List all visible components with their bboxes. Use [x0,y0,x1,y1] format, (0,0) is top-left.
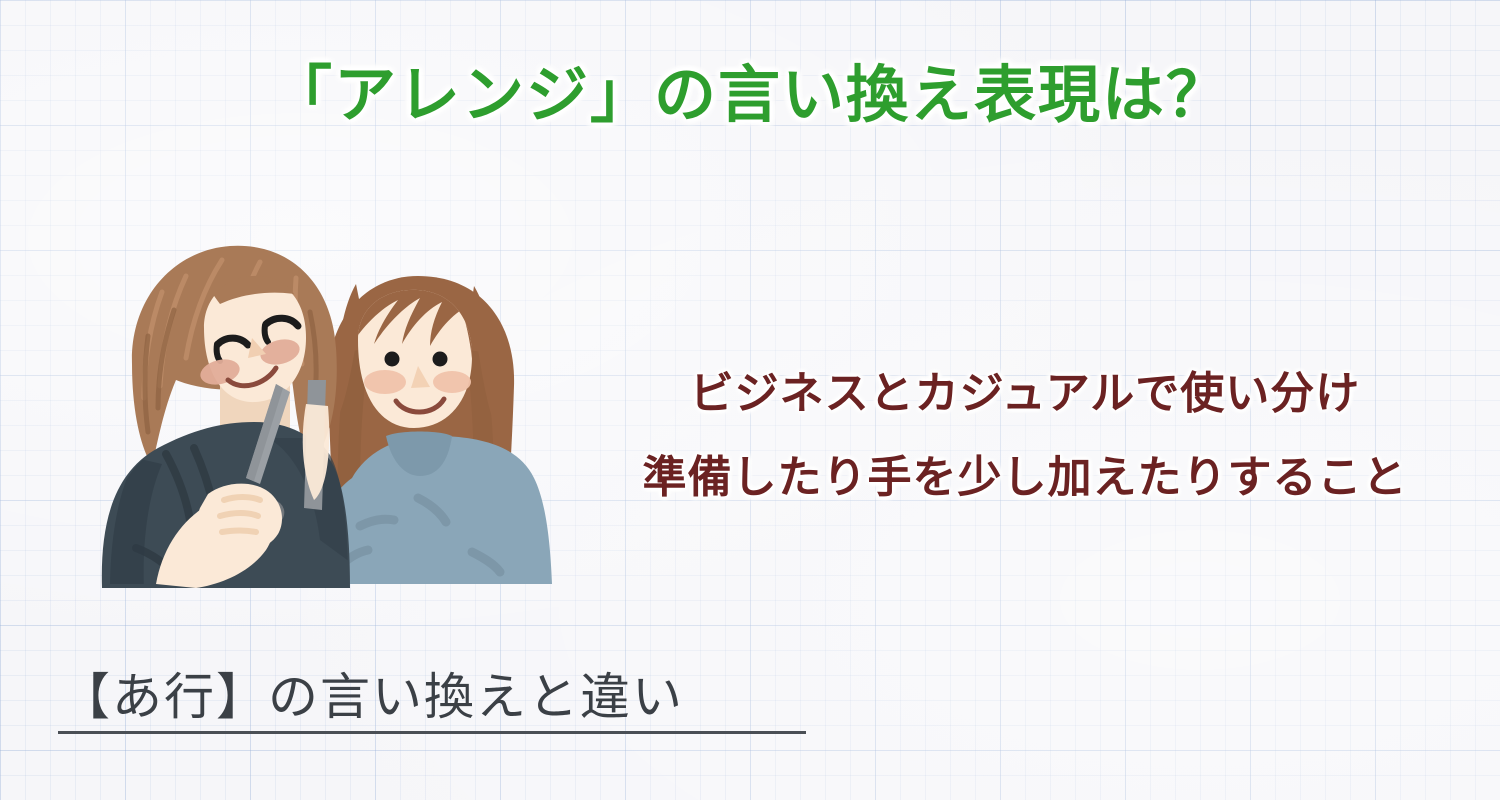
hairdresser-illustration [100,232,560,592]
body-line-1: ビジネスとカジュアルで使い分け [590,352,1460,436]
page-title: 「アレンジ」の言い換え表現は？ [0,44,1500,134]
client-eye-right [433,352,448,367]
client-eye-left [385,352,400,367]
poster-canvas: 「アレンジ」の言い換え表現は？ [0,0,1500,800]
body-copy: ビジネスとカジュアルで使い分け 準備したり手を少し加えたりすること [590,352,1460,520]
body-line-2: 準備したり手を少し加えたりすること [590,436,1460,520]
footer-caption: 【あ行】の言い換えと違い [60,657,684,729]
footer-divider [58,731,806,734]
